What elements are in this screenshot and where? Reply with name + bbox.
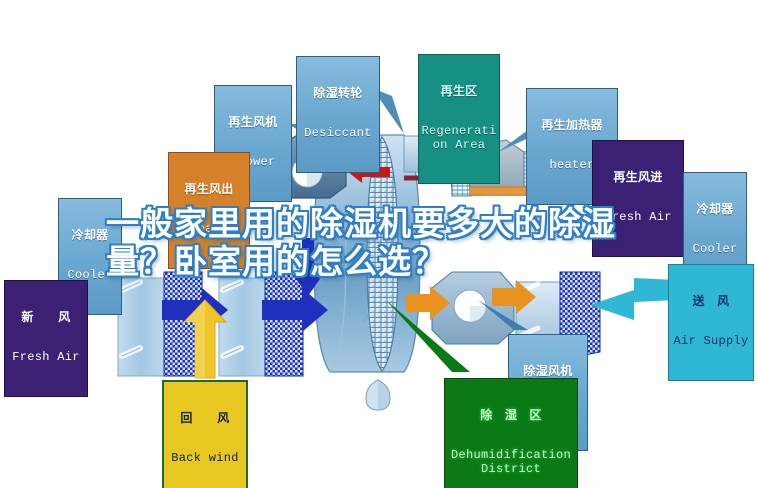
callout-dehum-blower-cn: 除湿风机 — [511, 365, 585, 378]
callout-regen-area: 再生区 Regenerati on Area — [418, 54, 500, 184]
callout-dehum-area-cn: 除 湿 区 — [447, 409, 575, 422]
callout-cooler-right-en: Cooler — [686, 243, 744, 256]
callout-desiccant: 除湿转轮 Desiccant — [296, 56, 380, 173]
callout-regen-area-en: Regenerati on Area — [421, 125, 497, 152]
callout-dehum-area-en: Dehumidification District — [447, 449, 575, 476]
callout-regen-area-cn: 再生区 — [421, 85, 497, 98]
callout-regen-heater-cn: 再生加热器 — [529, 119, 615, 132]
callout-fresh-air: 新 风 Fresh Air — [4, 280, 88, 397]
callout-cooler-right-cn: 冷却器 — [686, 203, 744, 216]
callout-back-wind-en: Back wind — [166, 452, 244, 465]
dehum-blower-body — [432, 272, 514, 344]
diagram-canvas: XT — [0, 0, 757, 488]
callout-back-wind-cn: 回 风 — [166, 412, 244, 425]
svg-text:XT: XT — [362, 311, 379, 326]
callout-dehum-area: 除 湿 区 Dehumidification District — [444, 378, 578, 488]
callout-air-supply-cn: 送 风 — [671, 295, 751, 308]
headline-overlay: 一般家里用的除湿机要多大的除湿量？卧室用的怎么选？ — [106, 205, 666, 280]
callout-desiccant-cn: 除湿转轮 — [299, 87, 377, 100]
callout-air-supply-en: Air Supply — [671, 335, 751, 348]
callout-air-supply: 送 风 Air Supply — [668, 264, 754, 381]
callout-exhaust-cn: 再生风出 — [171, 183, 247, 196]
callout-regen-in-cn: 再生风进 — [595, 171, 681, 184]
cooler-coil-left — [118, 272, 202, 376]
callout-fresh-air-cn: 新 风 — [7, 311, 85, 324]
callout-regen-blower-cn: 再生风机 — [217, 116, 289, 129]
callout-fresh-air-en: Fresh Air — [7, 351, 85, 364]
cooler-coil-right — [219, 272, 303, 376]
callout-desiccant-en: Desiccant — [299, 127, 377, 140]
callout-back-wind: 回 风 Back wind — [162, 380, 248, 488]
